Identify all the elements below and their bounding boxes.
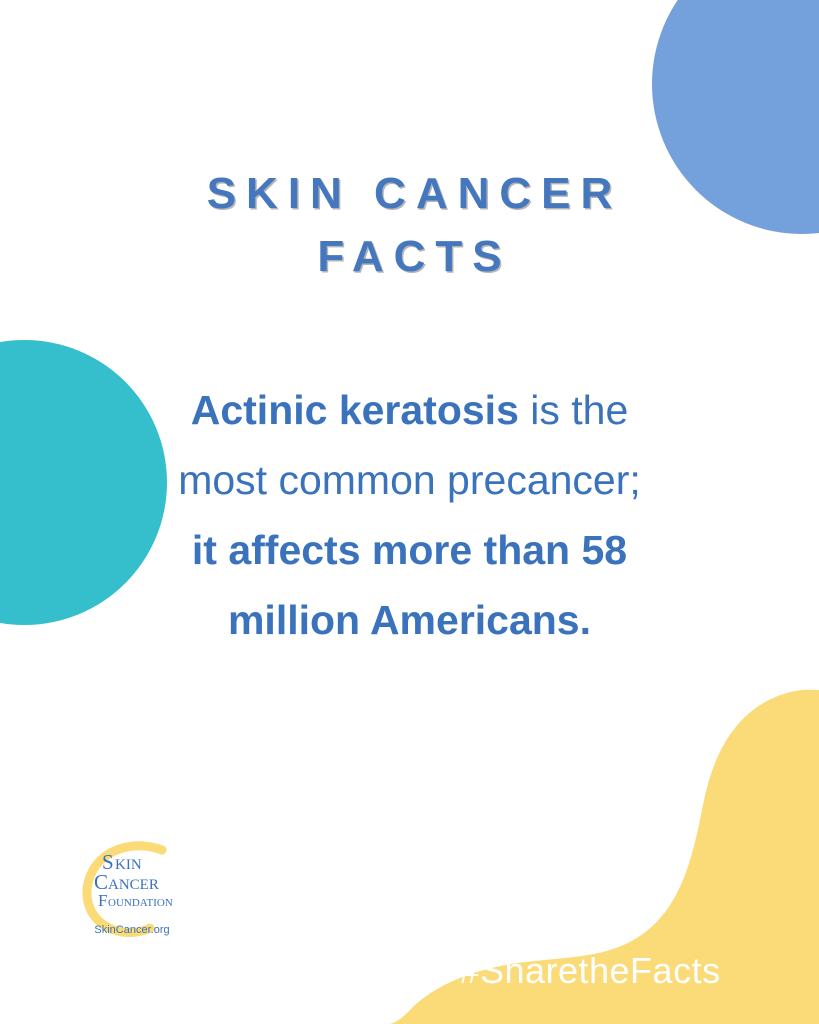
fact-line-1-bold: Actinic keratosis bbox=[191, 387, 519, 433]
fact-line-1: Actinic keratosis is the bbox=[60, 375, 759, 445]
fact-line-3-bold: it affects more than 58 bbox=[192, 527, 627, 573]
fact-line-2: most common precancer; bbox=[60, 445, 759, 515]
fact-line-2-normal: most common precancer; bbox=[178, 457, 641, 503]
skin-cancer-foundation-logo[interactable]: S KIN C ANCER F OUNDATION SkinCancer.org bbox=[74, 838, 190, 942]
logo-word-cancer-rest: ANCER bbox=[108, 877, 159, 893]
fact-line-1-normal: is the bbox=[519, 387, 628, 433]
fact-line-3: it affects more than 58 bbox=[60, 515, 759, 585]
page-title-line-1: SKIN CANCER bbox=[0, 163, 819, 226]
fact-line-4: million Americans. bbox=[60, 585, 759, 655]
logo-word-foundation-cap: F bbox=[98, 891, 107, 910]
fact-statement: Actinic keratosis is the most common pre… bbox=[60, 375, 759, 655]
fact-line-4-bold: million Americans. bbox=[228, 597, 591, 643]
page-title: SKIN CANCER FACTS bbox=[0, 163, 819, 289]
logo-word-foundation-rest: OUNDATION bbox=[108, 897, 173, 909]
skin-cancer-facts-poster: SKIN CANCER FACTS Actinic keratosis is t… bbox=[0, 0, 819, 1024]
logo-word-skin-rest: KIN bbox=[115, 857, 142, 873]
hashtag-share-the-facts: #SharetheFacts bbox=[420, 950, 760, 992]
logo-url: SkinCancer.org bbox=[94, 924, 169, 936]
page-title-line-2: FACTS bbox=[0, 226, 819, 289]
